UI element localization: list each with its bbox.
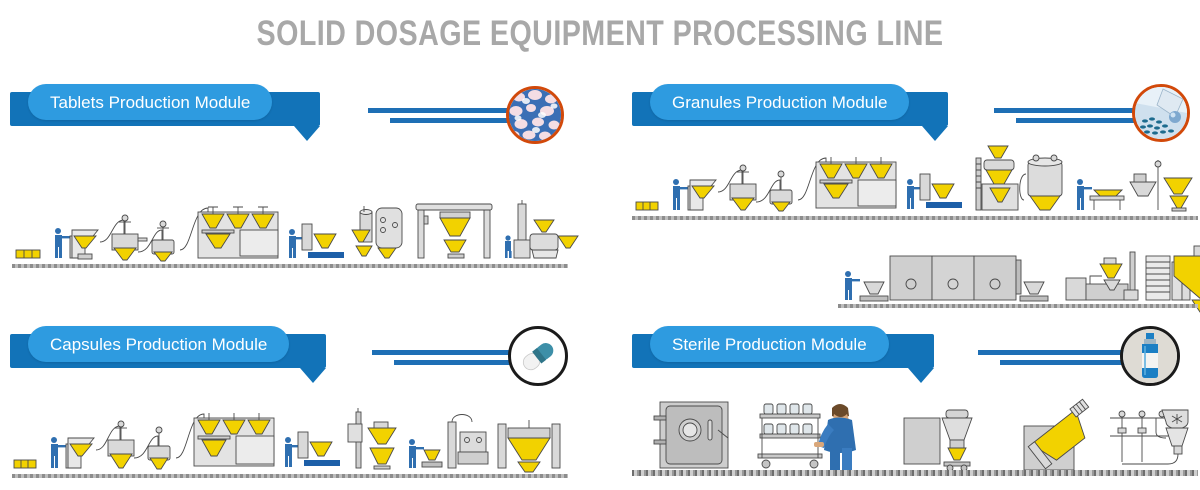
banner-pill-tablets[interactable]: Tablets Production Module [28, 84, 272, 120]
ground-line [632, 470, 1198, 476]
capsule-icon [508, 326, 568, 386]
connector-line-top [372, 350, 518, 355]
connector-line-top [994, 108, 1142, 113]
banner-capsules[interactable]: Capsules Production Module [10, 326, 326, 368]
banner-pointer [294, 126, 320, 141]
tablets-pills-icon [506, 86, 564, 144]
connector-line-bottom [1016, 118, 1142, 123]
banner-sterile[interactable]: Sterile Production Module [632, 326, 934, 368]
module-tablets: Tablets Production Module [10, 84, 570, 284]
banner-granules[interactable]: Granules Production Module [632, 84, 948, 126]
connector-line-bottom [394, 360, 518, 365]
ground-line [12, 264, 568, 268]
equipment-scene-granules-row1 [632, 144, 1198, 220]
connector-line-top [978, 350, 1128, 355]
banner-pill-granules[interactable]: Granules Production Module [650, 84, 909, 120]
module-capsules: Capsules Production Module [10, 326, 570, 486]
connector-line-bottom [1000, 360, 1128, 365]
banner-tablets[interactable]: Tablets Production Module [10, 84, 320, 126]
module-sterile: Sterile Production Module [632, 326, 1200, 486]
equipment-scene-granules-row2 [838, 242, 1198, 308]
module-label: Sterile Production Module [672, 336, 867, 353]
page-title: SOLID DOSAGE EQUIPMENT PROCESSING LINE [108, 14, 1092, 54]
processing-line-infographic: SOLID DOSAGE EQUIPMENT PROCESSING LINE T… [0, 0, 1200, 490]
ground-line [12, 474, 568, 478]
banner-pointer [922, 126, 948, 141]
equipment-scene-sterile [632, 388, 1198, 476]
granules-icon [1132, 84, 1190, 142]
connector-line-bottom [390, 118, 516, 123]
banner-pointer [300, 368, 326, 383]
ground-line [838, 304, 1198, 308]
equipment-scene-tablets [12, 190, 568, 268]
banner-pill-capsules[interactable]: Capsules Production Module [28, 326, 289, 362]
connector-line-top [368, 108, 516, 113]
banner-pointer [908, 368, 934, 383]
module-granules: Granules Production Module [632, 84, 1200, 324]
module-label: Tablets Production Module [50, 94, 250, 111]
module-label: Granules Production Module [672, 94, 887, 111]
banner-pill-sterile[interactable]: Sterile Production Module [650, 326, 889, 362]
ground-line [632, 216, 1198, 220]
equipment-scene-capsules [12, 402, 568, 478]
sterile-vial-icon [1120, 326, 1180, 386]
module-label: Capsules Production Module [50, 336, 267, 353]
